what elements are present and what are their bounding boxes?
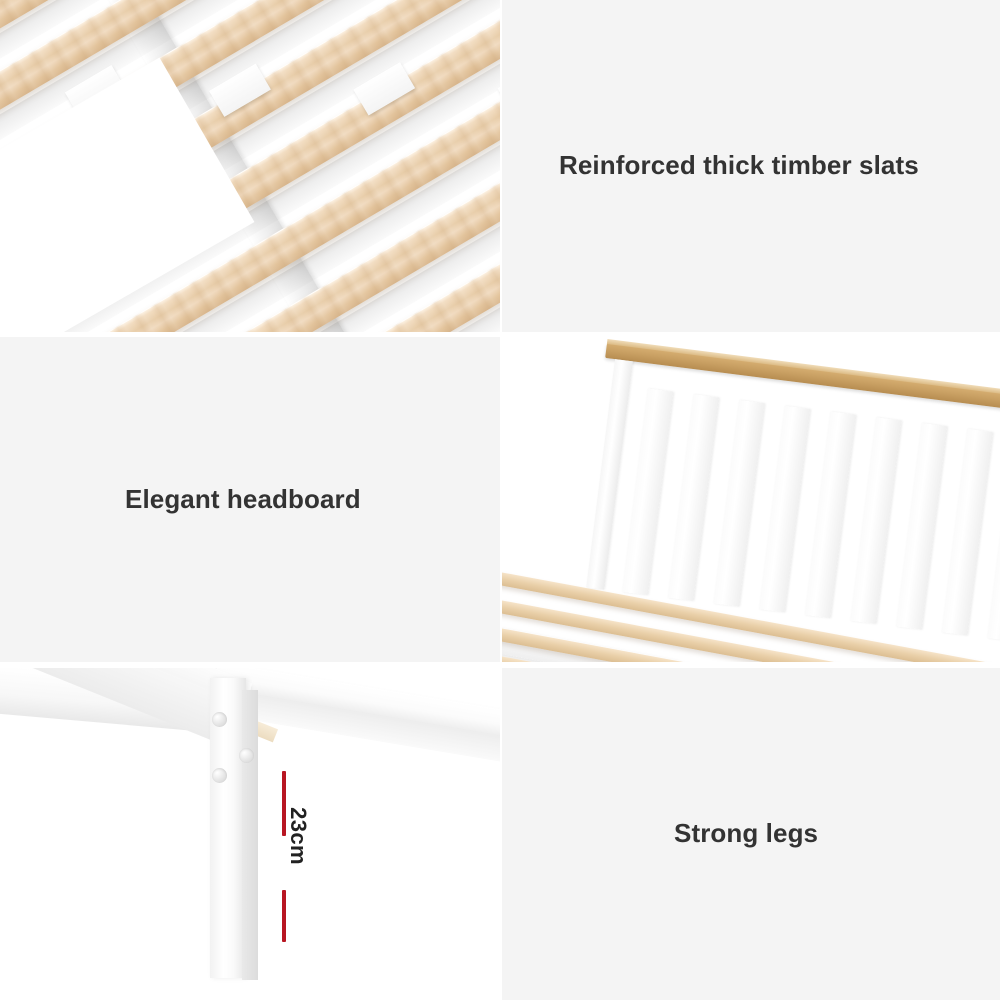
timber-slats-caption: Reinforced thick timber slats <box>559 150 919 181</box>
dowel-hole <box>239 748 254 763</box>
feature-infographic: Reinforced thick timber slats Elegant he… <box>0 0 1000 1000</box>
headboard-image <box>502 337 1000 662</box>
legs-image: 23cm <box>0 668 500 1000</box>
dowel-hole <box>212 712 227 727</box>
legs-caption-panel: Strong legs <box>502 668 1000 1000</box>
timber-slats-photo <box>0 0 500 332</box>
headboard-caption: Elegant headboard <box>125 484 361 515</box>
legs-photo: 23cm <box>0 668 500 1000</box>
timber-slats-caption-panel: Reinforced thick timber slats <box>502 0 1000 332</box>
dimension-line-lower <box>282 890 286 942</box>
legs-caption: Strong legs <box>674 818 818 849</box>
bed-leg-side-face <box>242 690 258 980</box>
headboard-caption-panel: Elegant headboard <box>0 337 500 662</box>
dowel-hole <box>212 768 227 783</box>
bed-deck <box>502 537 1000 662</box>
headboard-photo <box>502 337 1000 662</box>
dimension-label: 23cm <box>285 786 311 886</box>
